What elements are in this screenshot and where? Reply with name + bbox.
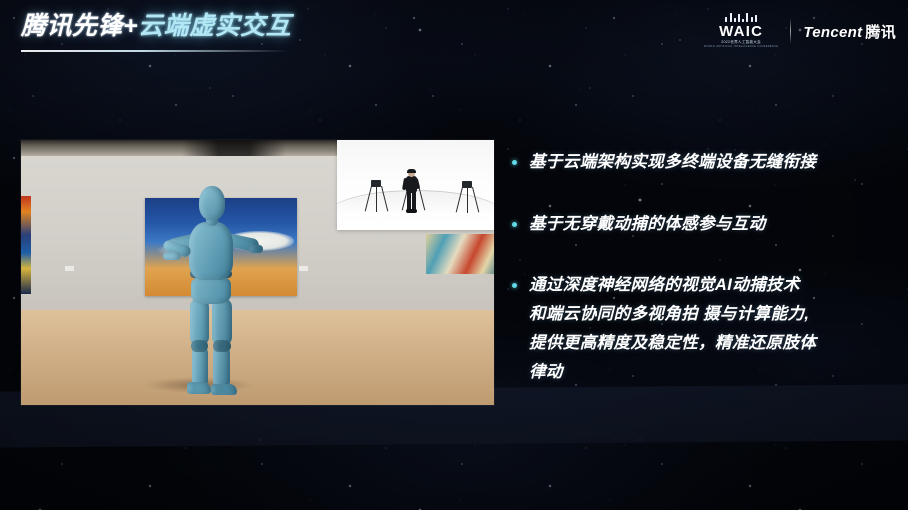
bullet-dot-icon <box>512 222 517 227</box>
title-underline-rule <box>21 50 289 52</box>
avatar-right-knee <box>213 340 231 352</box>
virtual-avatar <box>171 186 257 394</box>
bullet-dot-icon <box>512 283 517 288</box>
bullet-dot-icon <box>512 160 517 165</box>
bullet-text-3: 通过深度神经网络的视觉AI动捕技术 和端云协同的多视角拍 摄与计算能力, 提供更… <box>529 271 892 387</box>
avatar-right-hand <box>249 245 263 253</box>
avatar-right-thigh <box>212 298 232 346</box>
avatar-left-thigh <box>190 298 209 346</box>
wall-label-right <box>299 266 308 271</box>
waic-wordmark: WAIC <box>719 24 763 39</box>
logo-lockup: WAIC 2022世界人工智能大会 WORLD ARTIFICIAL INTEL… <box>704 13 896 49</box>
page-title-primary: 腾讯先锋+ <box>21 12 138 40</box>
page-title: 腾讯先锋+云端虚实交互 <box>21 14 291 39</box>
bullet-2-line-1: 基于无穿戴动捕的体感参与互动 <box>529 210 892 239</box>
bullet-3-line-2: 和端云协同的多视角拍 摄与计算能力, <box>529 300 892 329</box>
logo-divider <box>790 18 791 44</box>
avatar-left-knee <box>191 340 208 352</box>
bullet-item-1: 基于云端架构实现多终端设备无缝衔接 <box>512 148 892 177</box>
waic-tick-marks-icon <box>725 13 756 22</box>
bullet-1-line-1: 基于云端架构实现多终端设备无缝衔接 <box>529 148 892 177</box>
demo-screenshot <box>21 140 494 405</box>
tencent-logo-en: Tencent <box>803 24 862 41</box>
waic-logo: WAIC 2022世界人工智能大会 WORLD ARTIFICIAL INTEL… <box>704 13 778 49</box>
avatar-hips <box>191 276 231 304</box>
bullet-3-line-4: 律动 <box>529 358 892 387</box>
avatar-right-calf <box>213 346 230 388</box>
gallery-floor <box>21 310 494 405</box>
bullet-item-3: 通过深度神经网络的视觉AI动捕技术 和端云协同的多视角拍 摄与计算能力, 提供更… <box>512 271 892 387</box>
bullet-3-line-3: 提供更高精度及稳定性，精准还原肢体 <box>529 329 892 358</box>
bullet-item-2: 基于无穿戴动捕的体感参与互动 <box>512 210 892 239</box>
painting-left <box>21 196 31 294</box>
mocap-inset-video <box>337 140 494 230</box>
avatar-left-hand <box>163 252 181 260</box>
tencent-logo: Tencent腾讯 <box>803 21 896 42</box>
slide-header: 腾讯先锋+云端虚实交互 WAIC 2022世界人工智能大会 WORLD ARTI… <box>0 0 908 62</box>
avatar-head <box>199 186 225 220</box>
bullet-list: 基于云端架构实现多终端设备无缝衔接 基于无穿戴动捕的体感参与互动 通过深度神经网… <box>512 148 892 387</box>
page-title-accent: 云端虚实交互 <box>138 12 291 40</box>
mocap-performer <box>403 170 419 214</box>
bullet-text-1: 基于云端架构实现多终端设备无缝衔接 <box>529 148 892 177</box>
avatar-torso <box>189 222 233 280</box>
painting-right <box>426 234 494 274</box>
waic-subtitle-en: WORLD ARTIFICIAL INTELLIGENCE CONFERENCE <box>704 46 778 49</box>
wall-label-left <box>65 266 74 271</box>
avatar-left-foot <box>187 382 211 394</box>
slide-root: 腾讯先锋+云端虚实交互 WAIC 2022世界人工智能大会 WORLD ARTI… <box>0 0 908 510</box>
tencent-logo-cn: 腾讯 <box>865 24 896 41</box>
avatar-right-foot <box>211 384 237 395</box>
bullet-text-2: 基于无穿戴动捕的体感参与互动 <box>529 210 892 239</box>
bullet-3-line-1: 通过深度神经网络的视觉AI动捕技术 <box>529 271 892 300</box>
